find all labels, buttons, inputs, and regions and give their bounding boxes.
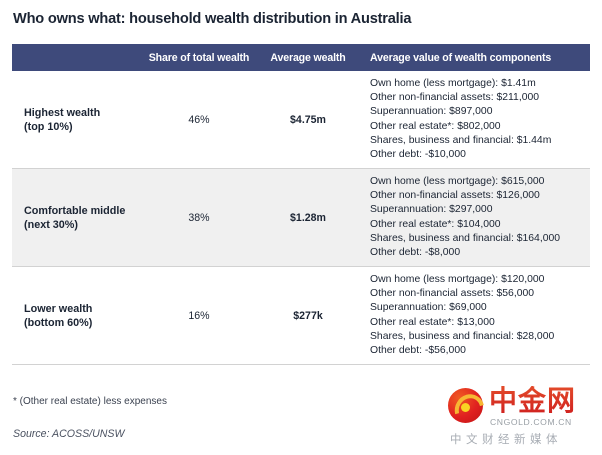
component-line: Shares, business and financial: $1.44m xyxy=(370,134,584,148)
component-line: Other non-financial assets: $126,000 xyxy=(370,189,584,203)
row-group-label: Comfortable middle (next 30%) xyxy=(12,169,140,267)
component-line: Own home (less mortgage): $615,000 xyxy=(370,175,584,189)
watermark-domain: CNGOLD.COM.CN xyxy=(490,417,572,427)
component-line: Other debt: -$10,000 xyxy=(370,148,584,162)
cell-average-wealth: $4.75m xyxy=(258,71,358,169)
component-line: Superannuation: $69,000 xyxy=(370,301,584,315)
cell-wealth-components: Own home (less mortgage): $1.41m Other n… xyxy=(358,71,590,169)
component-line: Own home (less mortgage): $1.41m xyxy=(370,77,584,91)
group-name: Lower wealth xyxy=(24,302,140,316)
cngold-swirl-logo-icon xyxy=(448,388,483,423)
watermark-tagline: 中文财经新媒体 xyxy=(450,431,562,447)
page-title: Who owns what: household wealth distribu… xyxy=(13,11,411,27)
component-line: Shares, business and financial: $164,000 xyxy=(370,232,584,246)
row-group-label: Highest wealth (top 10%) xyxy=(12,71,140,169)
cell-share-of-total-wealth: 46% xyxy=(140,71,258,169)
watermark-brand-row: 中金网 CNGOLD.COM.CN xyxy=(448,386,594,426)
component-line: Other real estate*: $802,000 xyxy=(370,120,584,134)
component-line: Superannuation: $897,000 xyxy=(370,105,584,119)
footnote: * (Other real estate) less expenses xyxy=(13,396,167,407)
component-line: Other debt: -$8,000 xyxy=(370,246,584,260)
cngold-watermark: 中金网 CNGOLD.COM.CN 中文财经新媒体 xyxy=(448,386,594,448)
column-header-group xyxy=(12,44,140,71)
wealth-distribution-table: Share of total wealth Average wealth Ave… xyxy=(12,44,590,365)
cell-share-of-total-wealth: 16% xyxy=(140,267,258,365)
cell-average-wealth: $1.28m xyxy=(258,169,358,267)
column-header-share: Share of total wealth xyxy=(140,44,258,71)
group-range: (bottom 60%) xyxy=(24,316,140,330)
row-group-label: Lower wealth (bottom 60%) xyxy=(12,267,140,365)
component-line: Own home (less mortgage): $120,000 xyxy=(370,273,584,287)
cell-average-wealth: $277k xyxy=(258,267,358,365)
component-line: Other debt: -$56,000 xyxy=(370,344,584,358)
component-line: Other real estate*: $13,000 xyxy=(370,316,584,330)
component-line: Superannuation: $297,000 xyxy=(370,203,584,217)
table-row: Lower wealth (bottom 60%) 16% $277k Own … xyxy=(12,267,590,365)
watermark-brand-name: 中金网 xyxy=(489,386,576,416)
table-body: Highest wealth (top 10%) 46% $4.75m Own … xyxy=(12,71,590,365)
column-header-components: Average value of wealth components xyxy=(358,44,590,71)
group-range: (top 10%) xyxy=(24,120,140,134)
group-name: Highest wealth xyxy=(24,106,140,120)
cell-share-of-total-wealth: 38% xyxy=(140,169,258,267)
component-line: Shares, business and financial: $28,000 xyxy=(370,330,584,344)
table-header: Share of total wealth Average wealth Ave… xyxy=(12,44,590,71)
source-note: Source: ACOSS/UNSW xyxy=(13,428,124,440)
component-line: Other non-financial assets: $211,000 xyxy=(370,91,584,105)
component-line: Other non-financial assets: $56,000 xyxy=(370,287,584,301)
component-line: Other real estate*: $104,000 xyxy=(370,218,584,232)
cell-wealth-components: Own home (less mortgage): $120,000 Other… xyxy=(358,267,590,365)
group-name: Comfortable middle xyxy=(24,204,140,218)
table-row: Highest wealth (top 10%) 46% $4.75m Own … xyxy=(12,71,590,169)
cell-wealth-components: Own home (less mortgage): $615,000 Other… xyxy=(358,169,590,267)
column-header-average-wealth: Average wealth xyxy=(258,44,358,71)
table-row: Comfortable middle (next 30%) 38% $1.28m… xyxy=(12,169,590,267)
table-header-row: Share of total wealth Average wealth Ave… xyxy=(12,44,590,71)
group-range: (next 30%) xyxy=(24,218,140,232)
